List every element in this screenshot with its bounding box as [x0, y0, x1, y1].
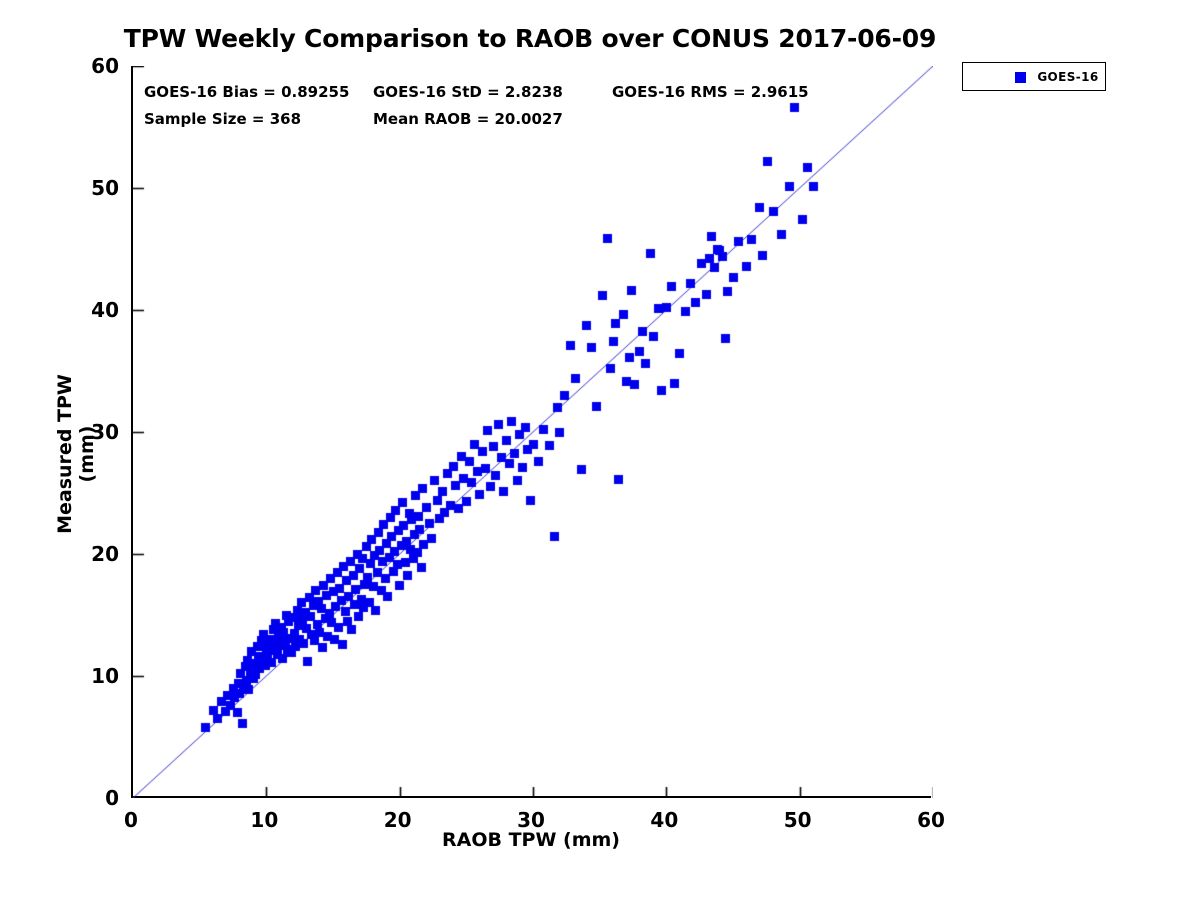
y-tick-label-60: 60 — [73, 54, 119, 78]
y-tick-label-50: 50 — [73, 176, 119, 200]
x-axis-title: RAOB TPW (mm) — [131, 829, 931, 851]
stat-bias: GOES-16 Bias = 0.89255 — [144, 83, 349, 101]
scatter-plot-canvas[interactable] — [133, 66, 933, 798]
page-title: TPW Weekly Comparison to RAOB over CONUS… — [0, 24, 1060, 53]
y-tick-label-40: 40 — [73, 298, 119, 322]
stat-std: GOES-16 StD = 2.8238 — [373, 83, 563, 101]
legend-marker-icon — [1015, 72, 1026, 83]
stat-mean-raob: Mean RAOB = 20.0027 — [373, 110, 563, 128]
legend-item-label: GOES-16 — [1037, 70, 1099, 84]
stat-sample-size: Sample Size = 368 — [144, 110, 301, 128]
y-tick-label-0: 0 — [73, 786, 119, 810]
y-axis-title: Measured TPW (mm) — [54, 354, 98, 554]
stat-rms: GOES-16 RMS = 2.9615 — [612, 83, 809, 101]
plot-area — [131, 66, 931, 798]
y-tick-label-10: 10 — [73, 664, 119, 688]
legend[interactable]: GOES-16 — [962, 62, 1106, 91]
chart-figure: TPW Weekly Comparison to RAOB over CONUS… — [0, 0, 1200, 900]
